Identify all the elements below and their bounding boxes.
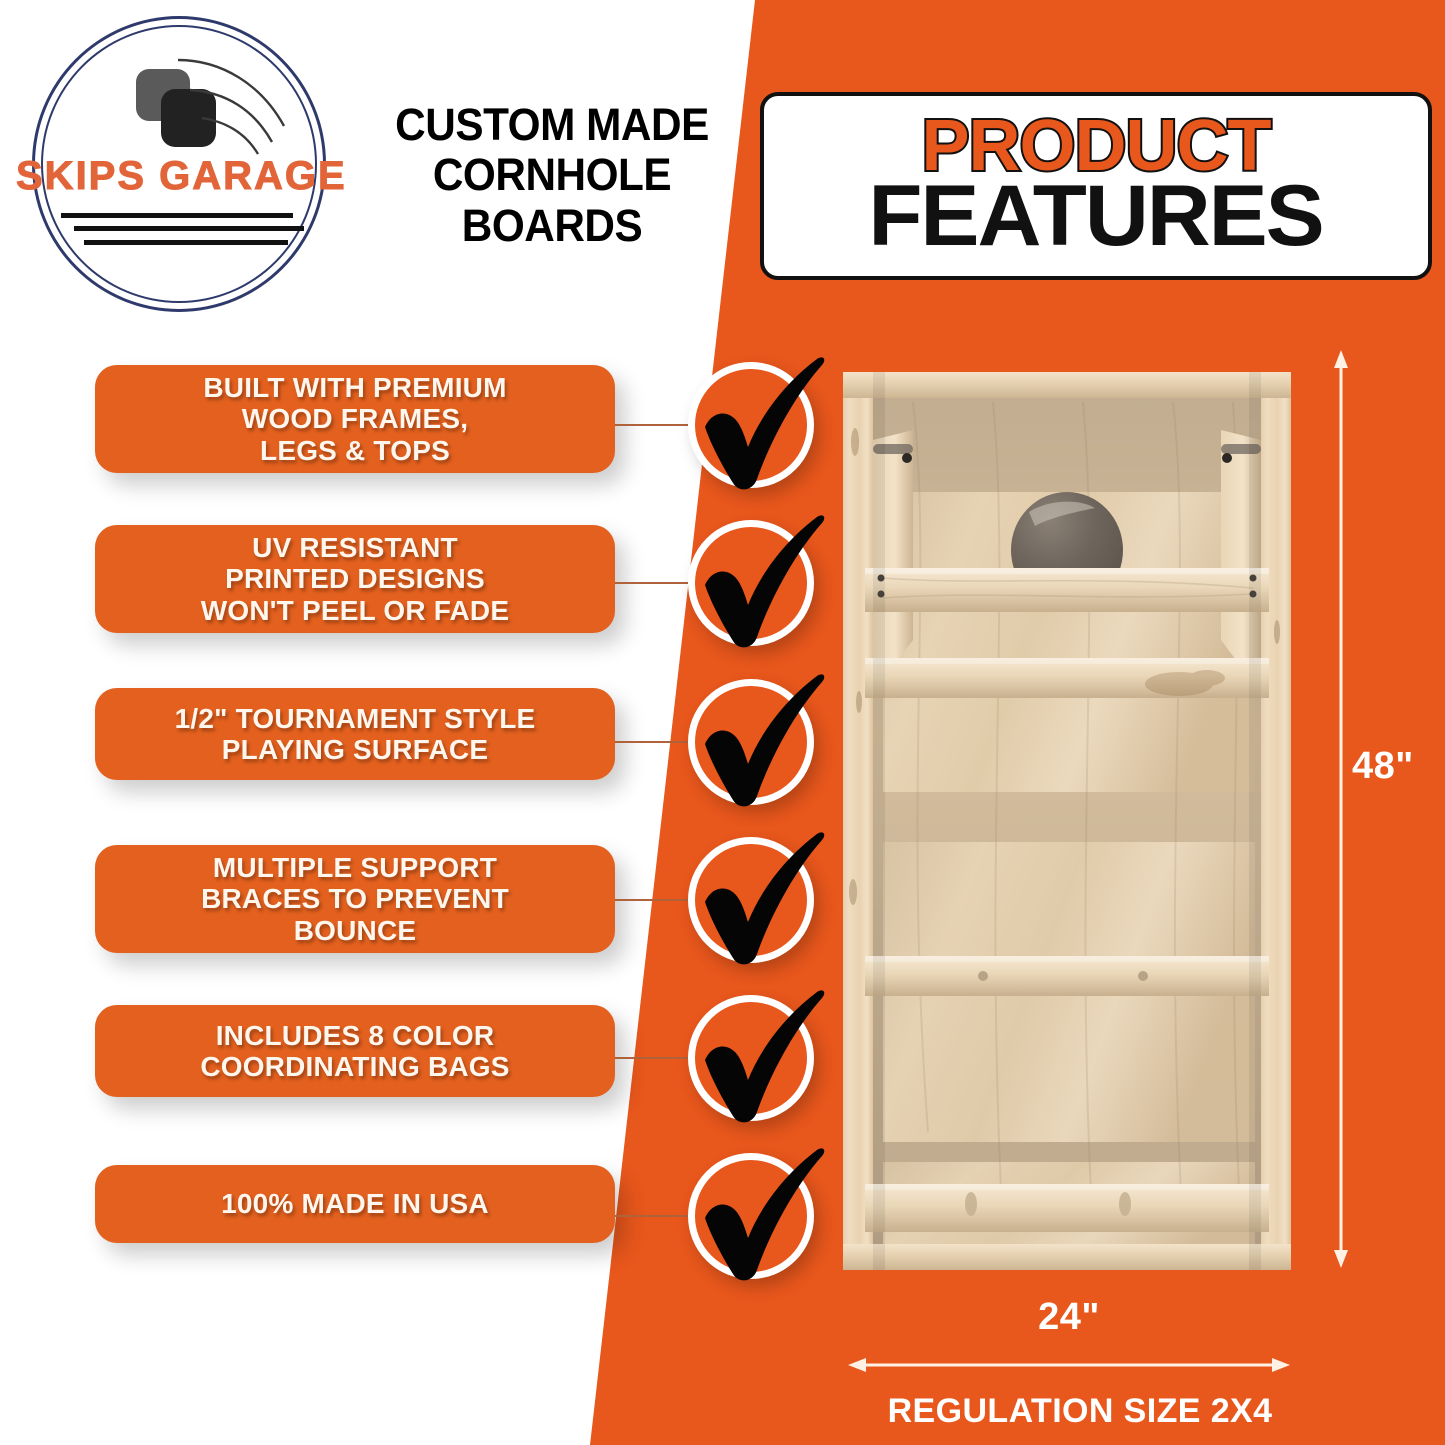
tagline-line-2: CORNHOLE	[364, 150, 740, 200]
feature-check-badge	[688, 995, 814, 1121]
double-arrow-horizontal-icon	[848, 1358, 1290, 1372]
logo-rule-3	[84, 240, 288, 245]
logo-wordmark: SKIPS GARAGE	[16, 154, 342, 199]
feature-check-badge	[688, 1153, 814, 1279]
product-features-header: PRODUCT FEATURES	[760, 92, 1432, 280]
feature-pill-made-in-usa[interactable]: 100% MADE IN USA	[95, 1165, 615, 1243]
feature-text-line: WOOD FRAMES,	[203, 403, 506, 434]
feature-text-line: UV RESISTANT	[201, 532, 509, 563]
feature-label: 100% MADE IN USA	[221, 1188, 489, 1219]
feature-text-line: 1/2" TOURNAMENT STYLE	[175, 703, 536, 734]
feature-check-badge	[688, 679, 814, 805]
height-dimension-label: 48"	[1352, 745, 1414, 788]
logo-rule-2	[74, 226, 304, 231]
feature-text-line: COORDINATING BAGS	[200, 1051, 509, 1082]
check-icon	[677, 662, 842, 827]
feature-check-badge	[688, 520, 814, 646]
header-word-features: FEATURES	[869, 176, 1323, 258]
feature-text-line: BOUNCE	[201, 915, 509, 946]
feature-text-line: 100% MADE IN USA	[221, 1188, 489, 1219]
double-arrow-vertical-icon	[1334, 350, 1348, 1268]
feature-label: UV RESISTANTPRINTED DESIGNSWON'T PEEL OR…	[201, 532, 509, 626]
cornhole-board-photo	[843, 372, 1291, 1270]
check-icon	[677, 978, 842, 1143]
check-icon	[677, 503, 842, 668]
feature-check-badge	[688, 362, 814, 488]
feature-text-line: BRACES TO PREVENT	[201, 883, 509, 914]
feature-text-line: WON'T PEEL OR FADE	[201, 595, 509, 626]
regulation-size-note: REGULATION SIZE 2X4	[820, 1392, 1340, 1431]
feature-pill-tournament-surface[interactable]: 1/2" TOURNAMENT STYLEPLAYING SURFACE	[95, 688, 615, 780]
feature-label: 1/2" TOURNAMENT STYLEPLAYING SURFACE	[175, 703, 536, 766]
feature-text-line: MULTIPLE SUPPORT	[201, 852, 509, 883]
logo-rule-1	[61, 213, 293, 218]
feature-text-line: LEGS & TOPS	[203, 435, 506, 466]
check-icon	[677, 1136, 842, 1301]
check-icon	[677, 345, 842, 510]
feature-label: BUILT WITH PREMIUMWOOD FRAMES,LEGS & TOP…	[203, 372, 506, 466]
infographic-canvas: SKIPS GARAGE CUSTOM MADE CORNHOLE BOARDS…	[0, 0, 1445, 1445]
feature-pill-support-braces[interactable]: MULTIPLE SUPPORTBRACES TO PREVENTBOUNCE	[95, 845, 615, 953]
feature-text-line: INCLUDES 8 COLOR	[200, 1020, 509, 1051]
feature-pill-uv-resistant[interactable]: UV RESISTANTPRINTED DESIGNSWON'T PEEL OR…	[95, 525, 615, 633]
feature-label: MULTIPLE SUPPORTBRACES TO PREVENTBOUNCE	[201, 852, 509, 946]
feature-text-line: BUILT WITH PREMIUM	[203, 372, 506, 403]
feature-check-badge	[688, 837, 814, 963]
feature-text-line: PRINTED DESIGNS	[201, 563, 509, 594]
feature-row: 100% MADE IN USA	[0, 0, 840, 150]
feature-text-line: PLAYING SURFACE	[175, 734, 536, 765]
check-icon	[677, 820, 842, 985]
tagline-line-3: BOARDS	[364, 201, 740, 251]
feature-pill-included-bags[interactable]: INCLUDES 8 COLORCOORDINATING BAGS	[95, 1005, 615, 1097]
width-dimension-label: 24"	[848, 1296, 1290, 1339]
feature-label: INCLUDES 8 COLORCOORDINATING BAGS	[200, 1020, 509, 1083]
feature-pill-premium-wood[interactable]: BUILT WITH PREMIUMWOOD FRAMES,LEGS & TOP…	[95, 365, 615, 473]
